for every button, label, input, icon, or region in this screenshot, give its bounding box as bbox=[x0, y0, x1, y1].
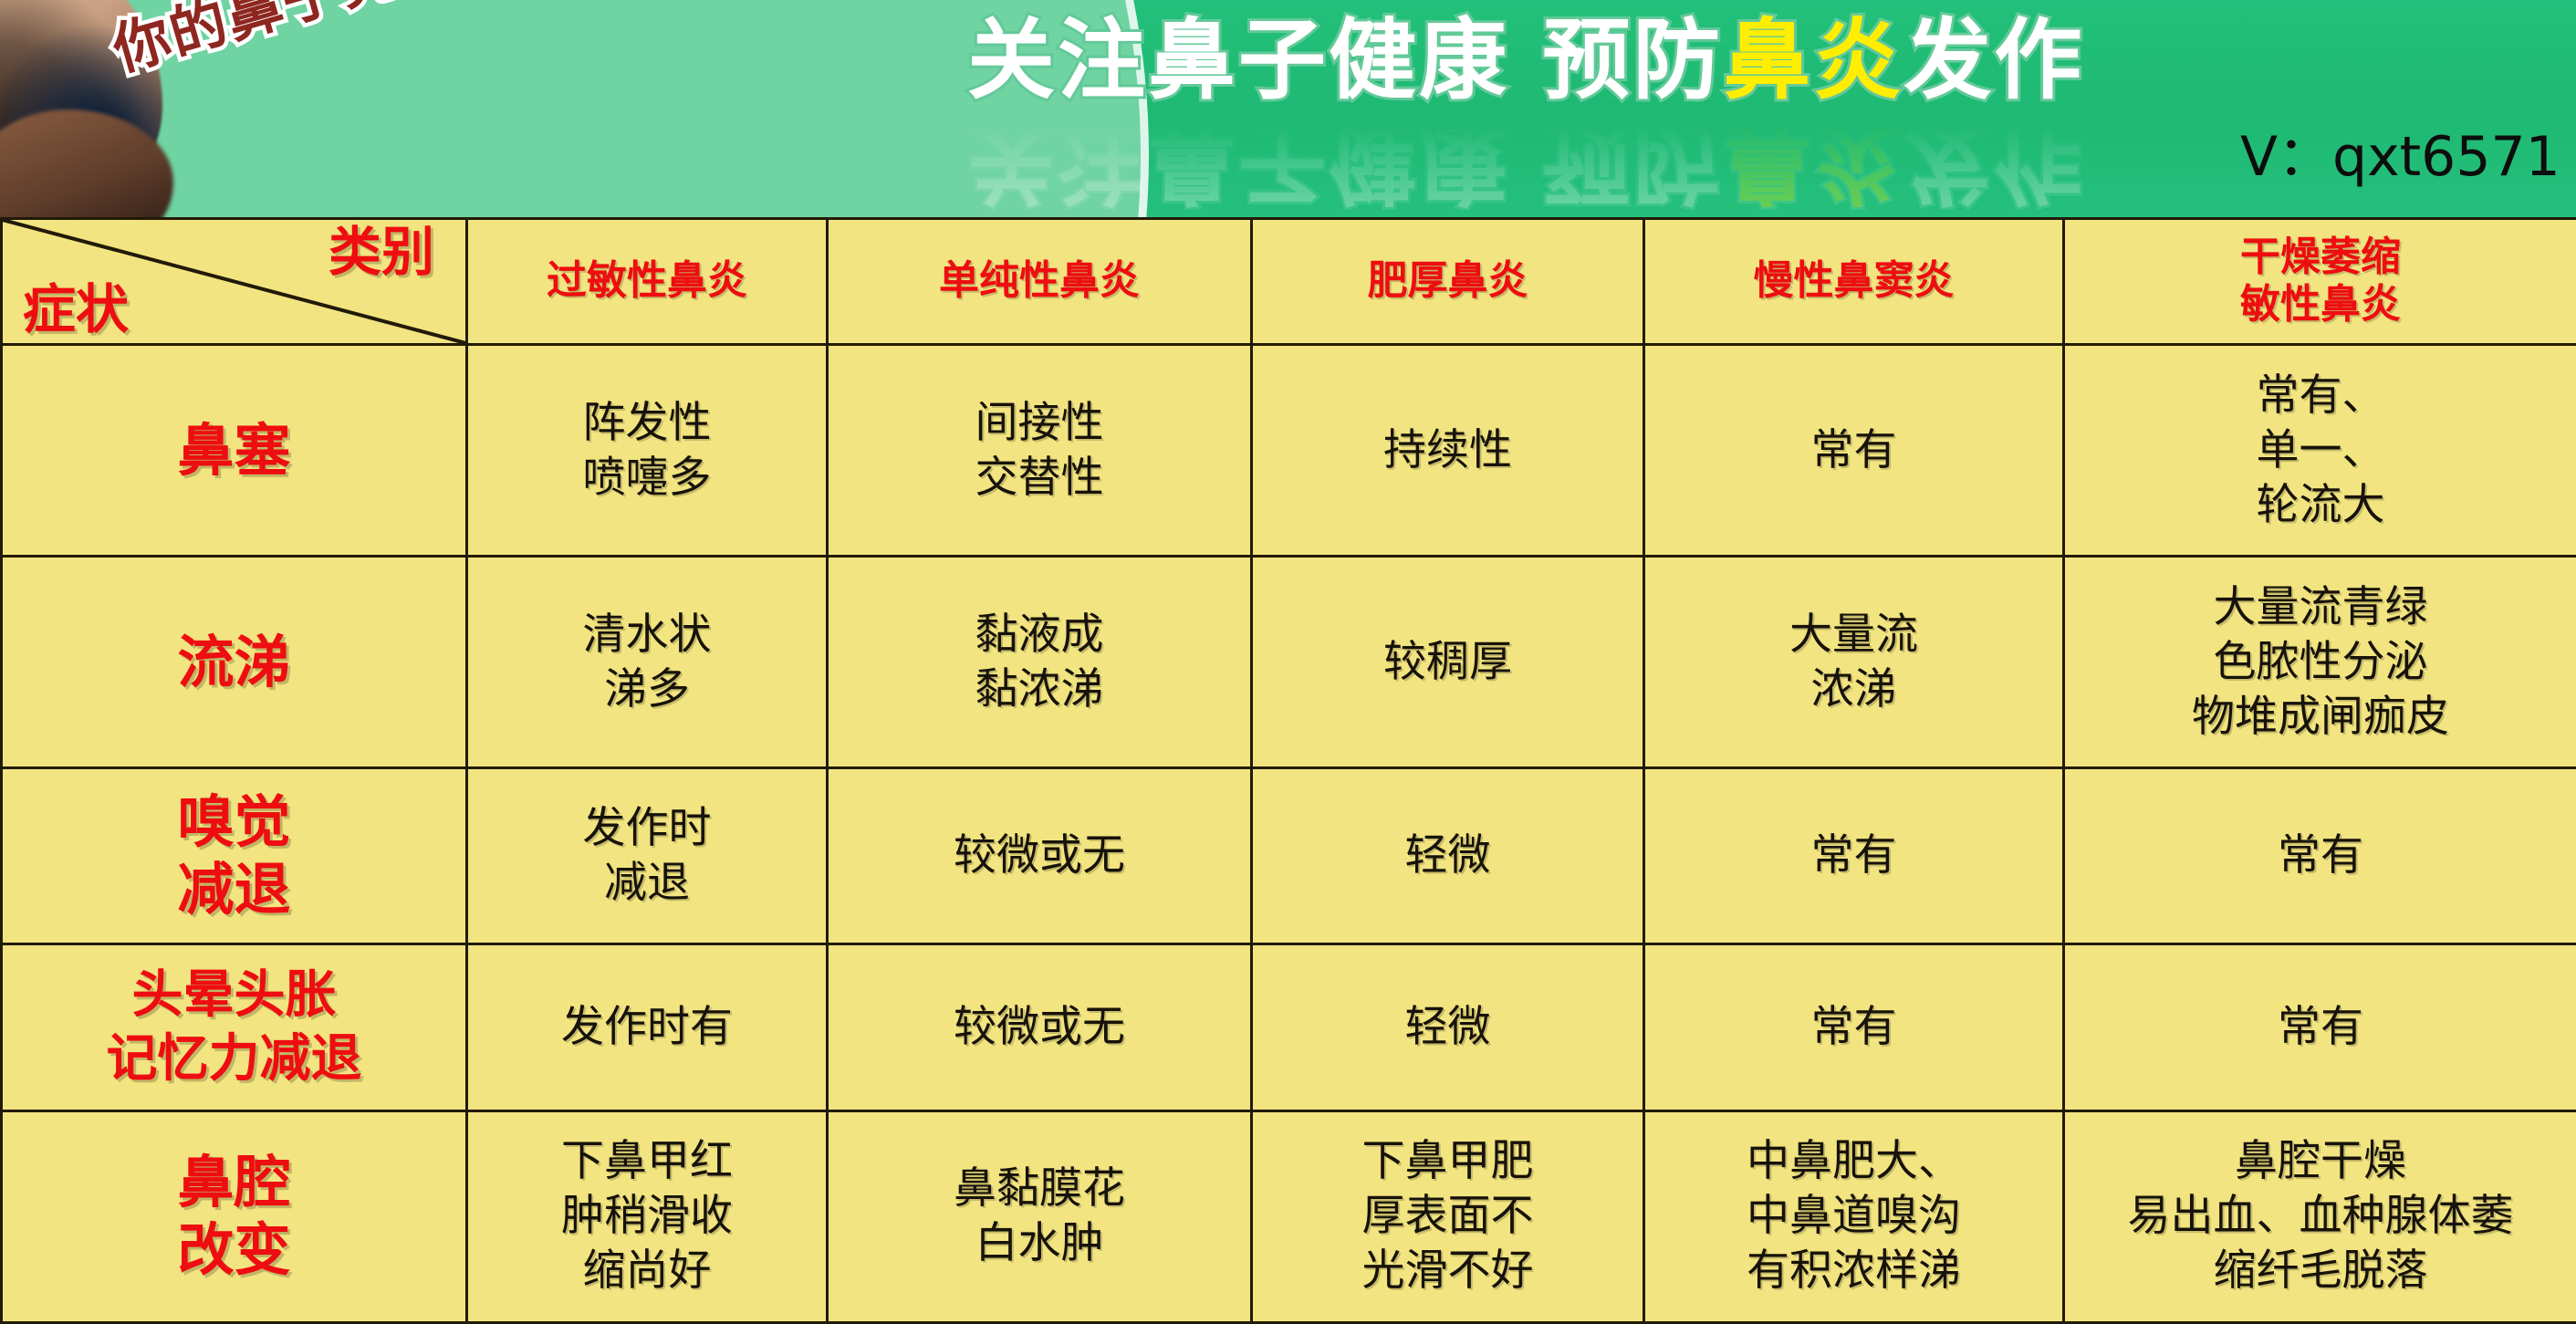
corner-category-label: 类别 bbox=[329, 222, 434, 282]
cell-line: 发作时有 bbox=[474, 1000, 820, 1055]
cell-line: 持续性 bbox=[1258, 423, 1637, 478]
cell-line: 鼻腔干燥 bbox=[2070, 1134, 2571, 1189]
cell-line: 易出血、血种腺体萎 bbox=[2070, 1189, 2571, 1244]
column-header-2: 肥厚鼻炎 bbox=[1252, 219, 1644, 345]
row-header-2: 嗅觉 减退 bbox=[2, 768, 467, 944]
cell-r1c4: 大量流青绿 色脓性分泌 物堆成闸痂皮 bbox=[2064, 557, 2576, 768]
cell-r4c0: 下鼻甲红 肿稍滑收 缩尚好 bbox=[467, 1110, 828, 1322]
title-reflect-part1: 关注鼻子健康 预防 bbox=[967, 115, 1723, 210]
cell-line: 厚表面不 bbox=[1258, 1189, 1637, 1244]
cell-line: 涕多 bbox=[474, 662, 820, 717]
row-header-line: 头晕头胀 bbox=[8, 964, 460, 1027]
cell-r2c3: 常有 bbox=[1644, 768, 2064, 944]
row-header-4: 鼻腔 改变 bbox=[2, 1110, 467, 1322]
cell-line: 物堆成闸痂皮 bbox=[2070, 690, 2571, 745]
title-highlight: 鼻炎 bbox=[1723, 9, 1903, 111]
cell-line: 减退 bbox=[474, 856, 820, 911]
cell-r1c3: 大量流 浓涕 bbox=[1644, 557, 2064, 768]
row-header-line: 鼻腔 bbox=[8, 1149, 460, 1216]
cell-line: 轻微 bbox=[1258, 1000, 1637, 1055]
cell-line: 常有、 bbox=[2070, 369, 2571, 423]
row-header-line: 嗅觉 bbox=[8, 788, 460, 856]
cell-r4c4: 鼻腔干燥 易出血、血种腺体萎 缩纤毛脱落 bbox=[2064, 1110, 2576, 1322]
row-header-line: 改变 bbox=[8, 1216, 460, 1284]
cell-r3c3: 常有 bbox=[1644, 944, 2064, 1111]
cell-line: 轮流大 bbox=[2070, 478, 2571, 533]
cell-line: 大量流 bbox=[1651, 608, 2057, 662]
table-row: 流涕 清水状 涕多 黏液成 黏浓涕 较稠厚 大量流 浓涕 大 bbox=[2, 557, 2576, 768]
cell-line: 鼻黏膜花 bbox=[834, 1162, 1245, 1216]
cell-line: 常有 bbox=[2070, 1000, 2571, 1055]
cell-line: 缩尚好 bbox=[474, 1244, 820, 1298]
cell-line: 中鼻肥大、 bbox=[1651, 1134, 2057, 1189]
cell-r2c1: 较微或无 bbox=[828, 768, 1252, 944]
banner-title-reflection: 关注鼻子健康 预防鼻炎发作 bbox=[967, 115, 2318, 210]
column-header-line: 单纯性鼻炎 bbox=[834, 257, 1245, 305]
cell-line: 常有 bbox=[1651, 829, 2057, 883]
cell-line: 黏浓涕 bbox=[834, 662, 1245, 717]
cell-line: 下鼻甲红 bbox=[474, 1134, 820, 1189]
cell-line: 间接性 bbox=[834, 396, 1245, 451]
cell-line: 浓涕 bbox=[1651, 662, 2057, 717]
row-header-0: 鼻塞 bbox=[2, 344, 467, 556]
column-header-line: 敏性鼻炎 bbox=[2070, 281, 2571, 328]
table-row: 鼻塞 阵发性 喷嚏多 间接性 交替性 持续性 常有 常有、 bbox=[2, 344, 2576, 556]
row-header-line: 减退 bbox=[8, 856, 460, 923]
cell-r1c0: 清水状 涕多 bbox=[467, 557, 828, 768]
cell-line: 黏液成 bbox=[834, 608, 1245, 662]
row-header-1: 流涕 bbox=[2, 557, 467, 768]
column-header-1: 单纯性鼻炎 bbox=[828, 219, 1252, 345]
title-reflect-highlight: 鼻炎 bbox=[1723, 115, 1903, 210]
cell-line: 有积浓样涕 bbox=[1651, 1244, 2057, 1298]
column-header-line: 肥厚鼻炎 bbox=[1258, 257, 1637, 305]
title-reflect-part2: 发作 bbox=[1903, 115, 2084, 210]
cell-r3c1: 较微或无 bbox=[828, 944, 1252, 1111]
cell-line: 下鼻甲肥 bbox=[1258, 1134, 1637, 1189]
cell-r0c0: 阵发性 喷嚏多 bbox=[467, 344, 828, 556]
cell-line: 较微或无 bbox=[834, 829, 1245, 883]
column-header-3: 慢性鼻窦炎 bbox=[1644, 219, 2064, 345]
cell-line: 较稠厚 bbox=[1258, 635, 1637, 690]
row-header-line: 记忆力减退 bbox=[8, 1027, 460, 1091]
cell-line: 常有 bbox=[1651, 1000, 2057, 1055]
cell-line: 阵发性 bbox=[474, 396, 820, 451]
cell-line: 交替性 bbox=[834, 451, 1245, 506]
cell-line: 单一、 bbox=[2070, 423, 2571, 478]
cell-r4c3: 中鼻肥大、 中鼻道嗅沟 有积浓样涕 bbox=[1644, 1110, 2064, 1322]
cell-line: 轻微 bbox=[1258, 829, 1637, 883]
cell-r0c2: 持续性 bbox=[1252, 344, 1644, 556]
cell-line: 肿稍滑收 bbox=[474, 1189, 820, 1244]
cell-r0c3: 常有 bbox=[1644, 344, 2064, 556]
row-header-line: 流涕 bbox=[8, 629, 460, 696]
cell-r0c1: 间接性 交替性 bbox=[828, 344, 1252, 556]
table-row: 鼻腔 改变 下鼻甲红 肿稍滑收 缩尚好 鼻黏膜花 白水肿 下鼻甲肥 厚表面不 光… bbox=[2, 1110, 2576, 1322]
table-row: 头晕头胀 记忆力减退 发作时有 较微或无 轻微 常有 常有 bbox=[2, 944, 2576, 1111]
cell-line: 常有 bbox=[2070, 829, 2571, 883]
row-header-3: 头晕头胀 记忆力减退 bbox=[2, 944, 467, 1111]
table-header-row: 类别 症状 过敏性鼻炎 单纯性鼻炎 肥厚鼻炎 慢性鼻窦炎 bbox=[2, 219, 2576, 345]
cell-r2c4: 常有 bbox=[2064, 768, 2576, 944]
cell-line: 常有 bbox=[1651, 423, 2057, 478]
cell-line: 发作时 bbox=[474, 801, 820, 856]
watermark-text: V：qxt6571 bbox=[2240, 128, 2560, 186]
cell-r4c1: 鼻黏膜花 白水肿 bbox=[828, 1110, 1252, 1322]
cell-line: 中鼻道嗅沟 bbox=[1651, 1189, 2057, 1244]
cell-line: 缩纤毛脱落 bbox=[2070, 1244, 2571, 1298]
symptom-comparison-table: 类别 症状 过敏性鼻炎 单纯性鼻炎 肥厚鼻炎 慢性鼻窦炎 bbox=[0, 217, 2576, 1324]
table-row: 嗅觉 减退 发作时 减退 较微或无 轻微 常有 常有 bbox=[2, 768, 2576, 944]
cell-r0c4: 常有、 单一、 轮流大 bbox=[2064, 344, 2576, 556]
cell-r1c2: 较稠厚 bbox=[1252, 557, 1644, 768]
title-part1: 关注鼻子健康 预防 bbox=[967, 9, 1723, 111]
cell-r3c4: 常有 bbox=[2064, 944, 2576, 1111]
cell-line: 喷嚏多 bbox=[474, 451, 820, 506]
corner-symptom-label: 症状 bbox=[23, 279, 129, 339]
cell-r2c0: 发作时 减退 bbox=[467, 768, 828, 944]
cell-line: 色脓性分泌 bbox=[2070, 635, 2571, 690]
cell-r3c0: 发作时有 bbox=[467, 944, 828, 1111]
banner-title: 关注鼻子健康 预防鼻炎发作 bbox=[967, 13, 2318, 122]
row-header-line: 鼻塞 bbox=[8, 417, 460, 485]
column-header-line: 慢性鼻窦炎 bbox=[1651, 257, 2057, 305]
cell-r2c2: 轻微 bbox=[1252, 768, 1644, 944]
infographic-page: 你的鼻子亮红灯了吗? 关注鼻子健康 预防鼻炎发作 关注鼻子健康 预防鼻炎发作 V… bbox=[0, 0, 2576, 1324]
banner-header: 你的鼻子亮红灯了吗? 关注鼻子健康 预防鼻炎发作 关注鼻子健康 预防鼻炎发作 V… bbox=[0, 0, 2576, 217]
cell-line: 大量流青绿 bbox=[2070, 580, 2571, 635]
cell-r3c2: 轻微 bbox=[1252, 944, 1644, 1111]
column-header-line: 干燥萎缩 bbox=[2070, 234, 2571, 281]
cell-line: 白水肿 bbox=[834, 1216, 1245, 1271]
cell-r1c1: 黏液成 黏浓涕 bbox=[828, 557, 1252, 768]
column-header-line: 过敏性鼻炎 bbox=[474, 257, 820, 305]
cell-line: 光滑不好 bbox=[1258, 1244, 1637, 1298]
title-part2: 发作 bbox=[1903, 9, 2084, 111]
cell-r4c2: 下鼻甲肥 厚表面不 光滑不好 bbox=[1252, 1110, 1644, 1322]
cell-line: 较微或无 bbox=[834, 1000, 1245, 1055]
corner-header-cell: 类别 症状 bbox=[2, 219, 467, 345]
cell-line: 清水状 bbox=[474, 608, 820, 662]
column-header-0: 过敏性鼻炎 bbox=[467, 219, 828, 345]
column-header-4: 干燥萎缩 敏性鼻炎 bbox=[2064, 219, 2576, 345]
